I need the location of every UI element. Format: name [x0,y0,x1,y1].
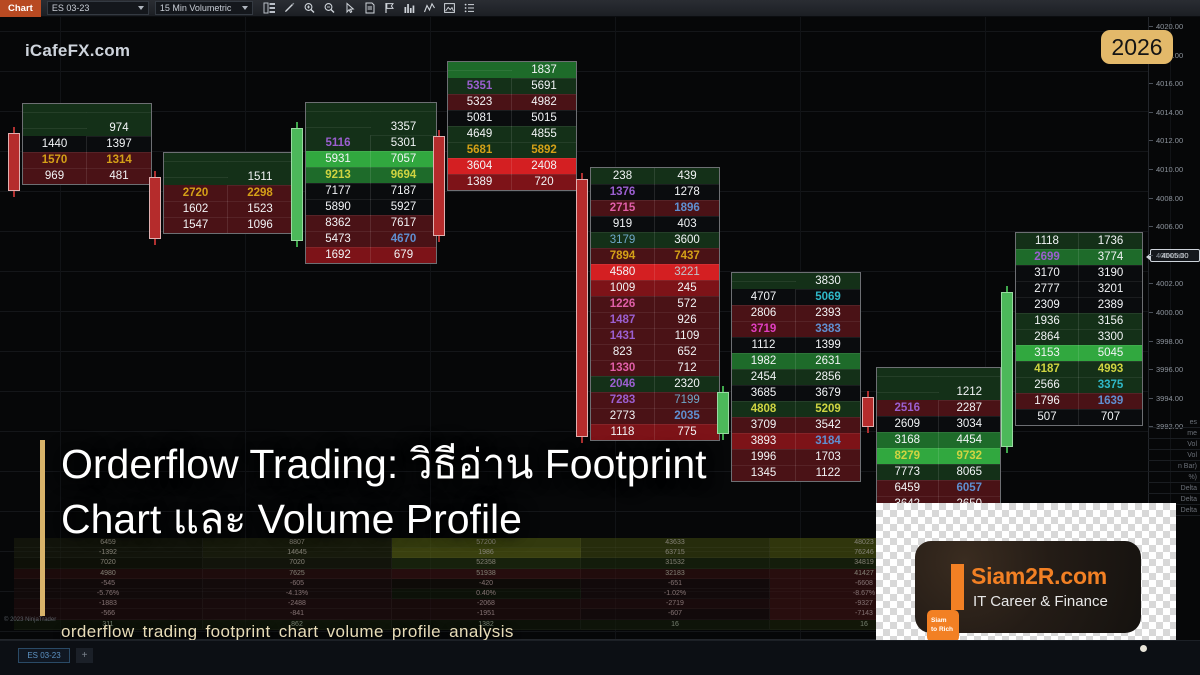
stats-cell: 16 [581,620,770,630]
bid-volume: 4187 [1016,361,1079,378]
stats-cell: 63715 [581,548,770,558]
footprint-row[interactable]: 1487926 [591,312,719,328]
ask-volume: 5301 [371,135,436,152]
bid-volume [306,127,371,128]
footprint-row[interactable]: 46494855 [448,126,576,142]
ask-volume: 1703 [796,449,860,466]
ask-volume: 572 [655,296,719,313]
ask-volume: 4982 [512,94,576,111]
brand-accent-bar [951,564,964,610]
price-candle [576,179,588,437]
ask-volume: 1278 [655,184,719,201]
price-tick-label: 4006.00 [1156,222,1183,231]
footprint-row[interactable]: 919403 [591,216,719,232]
ask-volume: 3830 [796,273,860,290]
price-candle [433,136,445,236]
ask-volume: 481 [87,168,151,184]
bid-volume: 969 [23,168,87,184]
bid-volume: 8279 [877,448,939,465]
brand-chip-line1: Siam [931,617,947,624]
bid-volume [164,177,228,178]
zoom-in-icon[interactable] [300,0,320,17]
add-tab-button[interactable]: + [76,648,93,663]
ask-volume: 1122 [796,465,860,481]
footprint-row[interactable] [164,153,292,169]
bid-volume [164,161,228,162]
bid-volume: 7283 [591,392,655,409]
bid-volume: 919 [591,216,655,233]
price-candle [717,392,729,434]
bid-volume [23,128,87,129]
footprint-row[interactable]: 19961703 [732,449,860,465]
footprint-row[interactable]: 19363156 [1016,313,1142,329]
stats-cell: -2719 [581,599,770,609]
ask-volume: 1399 [796,337,860,354]
footprint-row[interactable]: 27773201 [1016,281,1142,297]
footprint-row[interactable]: 15701314 [23,152,151,168]
stats-cell: -651 [581,579,770,589]
list-icon[interactable] [460,0,480,17]
bid-volume: 4808 [732,401,796,418]
footprint-row[interactable]: 47075069 [732,289,860,305]
bid-volume: 2777 [1016,281,1079,298]
bid-volume: 1692 [306,247,371,263]
footprint-row[interactable]: 13761278 [591,184,719,200]
ask-volume: 3184 [796,433,860,450]
stats-cell: 1986 [392,548,581,558]
price-tick: 4008.00 [1149,193,1200,204]
footprint-row[interactable]: 28643300 [1016,329,1142,345]
bid-volume: 7894 [591,248,655,265]
ask-volume: 7199 [655,392,719,409]
candle-body [291,128,303,241]
ask-volume: 2631 [796,353,860,370]
tick-dash [1149,140,1153,141]
bid-volume: 5323 [448,94,512,111]
ask-volume [371,111,436,112]
bid-volume: 1009 [591,280,655,297]
bid-volume: 5890 [306,199,371,216]
ask-volume: 2389 [1079,297,1142,314]
bid-volume: 1330 [591,360,655,377]
footprint-row[interactable]: 27151896 [591,200,719,216]
ask-volume: 3774 [1079,249,1142,266]
footprint-cells: 1118173626993774317031902777320123092389… [1015,232,1143,426]
footprint-row[interactable]: 36042408 [448,158,576,174]
price-tick-label: 4008.00 [1156,194,1183,203]
footprint-row[interactable]: 15471096 [164,217,292,233]
ask-volume: 7187 [371,183,436,200]
bid-volume: 2566 [1016,377,1079,394]
tick-dash [1149,283,1153,284]
price-tick-label: 4016.00 [1156,79,1183,88]
bid-volume: 1376 [591,184,655,201]
footprint-row[interactable]: 45803221 [591,264,719,280]
ask-volume: 7617 [371,215,436,232]
footprint-row[interactable]: 71777187 [306,183,436,199]
footprint-row[interactable]: 1009245 [591,280,719,296]
ask-volume: 5045 [1079,345,1142,362]
price-tick-label: 4010.00 [1156,165,1183,174]
footprint-row[interactable]: 72837199 [591,392,719,408]
indicator-label: n Bar) [1148,461,1200,472]
bid-volume: 1602 [164,201,228,218]
ask-volume: 245 [655,280,719,297]
price-tick-label: 3994.00 [1156,394,1183,403]
ask-volume: 4454 [939,432,1001,449]
title-overlay: Orderflow Trading: วิธีอ่าน Footprint Ch… [40,437,730,547]
price-tick: 4014.00 [1149,107,1200,118]
ask-volume: 3201 [1079,281,1142,298]
footprint-row[interactable]: 25162287 [877,400,1000,416]
bid-volume: 2715 [591,200,655,217]
ask-volume: 5209 [796,401,860,418]
ask-volume: 1511 [228,169,292,186]
footprint-row[interactable]: 92139694 [306,167,436,183]
tick-dash [1149,369,1153,370]
price-candle [291,128,303,241]
bid-volume: 1118 [1016,233,1079,250]
candle-body [576,179,588,437]
footprint-row[interactable]: 51165301 [306,135,436,151]
footprint-row[interactable]: 13451122 [732,465,860,481]
footprint-row[interactable]: 26993774 [1016,249,1142,265]
footprint-row[interactable]: 56815892 [448,142,576,158]
bid-volume: 5931 [306,151,371,168]
footprint-row[interactable]: 37093542 [732,417,860,433]
ask-volume: 3542 [796,417,860,434]
footprint-row[interactable]: 11181736 [1016,233,1142,249]
ask-volume: 2035 [655,408,719,425]
period-select[interactable]: 15 Min Volumetric [155,1,253,15]
price-tick: 4000.00 [1149,307,1200,318]
tick-dash [1149,26,1153,27]
footprint-row[interactable]: 77738065 [877,464,1000,480]
bid-volume: 2609 [877,416,939,433]
price-tick: 3994.00 [1149,393,1200,404]
bid-volume [23,112,87,113]
stats-cell: 51938 [392,569,581,579]
footprint-row[interactable]: 3830 [732,273,860,289]
tick-dash [1149,341,1153,342]
chevron-down-icon [242,6,248,10]
footprint-row[interactable]: 27732035 [591,408,719,424]
footprint-row[interactable] [23,104,151,120]
footprint-row[interactable]: 31684454 [877,432,1000,448]
tick-dash [1149,112,1153,113]
footprint-row[interactable]: 20462320 [591,376,719,392]
footprint-cells: 9741440139715701314969481 [22,103,152,185]
footprint-cells: 3830470750692806239337193383111213991982… [731,272,861,482]
stats-cell: 7625 [203,569,392,579]
footprint-row[interactable] [306,103,436,119]
price-tick-label: 4000.00 [1156,308,1183,317]
ask-volume: 1109 [655,328,719,345]
footprint-row[interactable]: 1212 [877,384,1000,400]
footprint-row[interactable]: 36853679 [732,385,860,401]
price-tick: 4002.00 [1149,278,1200,289]
footprint-cells: 1837535156915323498250815015464948555681… [447,61,577,191]
indicator-label: Vol [1148,450,1200,461]
bid-volume: 1226 [591,296,655,313]
bid-volume: 2773 [591,408,655,425]
tick-dash [1149,398,1153,399]
ninjatrader-copyright: © 2023 NinjaTrader [4,617,56,623]
footprint-row[interactable]: 64596057 [877,480,1000,496]
footprint-row[interactable]: 14401397 [23,136,151,152]
bid-volume: 1996 [732,449,796,466]
ask-volume: 7057 [371,151,436,168]
ask-volume: 1736 [1079,233,1142,250]
stats-cell: 14645 [203,548,392,558]
ask-volume: 1523 [228,201,292,218]
footprint-row[interactable]: 28062393 [732,305,860,321]
footprint-row[interactable]: 19822631 [732,353,860,369]
stats-cell: 32183 [581,569,770,579]
bars-icon[interactable] [400,0,420,17]
footprint-cells: 3357511653015931705792139694717771875890… [305,102,437,264]
footprint-row[interactable]: 50815015 [448,110,576,126]
stats-cell: 0.40% [392,589,581,599]
ask-volume: 3190 [1079,265,1142,282]
bid-volume: 4649 [448,126,512,143]
site-watermark: iCafeFX.com [25,41,130,61]
bid-volume [448,70,512,71]
ask-volume: 1837 [512,62,576,79]
year-badge: 2026 [1101,30,1173,64]
ask-volume: 4670 [371,231,436,248]
stats-cell: -2068 [392,599,581,609]
page-subtitle: orderflow trading footprint chart volume… [61,622,514,642]
footprint-row[interactable]: 1511 [164,169,292,185]
price-tick: 3996.00 [1149,364,1200,375]
line-chart-icon[interactable] [420,0,440,17]
stats-cell: 7020 [203,558,392,568]
footprint-row[interactable]: 31535045 [1016,345,1142,361]
ask-volume: 8065 [939,464,1001,481]
price-tick-label: 4002.00 [1156,279,1183,288]
ask-volume: 4855 [512,126,576,143]
ask-volume: 1314 [87,152,151,169]
bid-volume: 1982 [732,353,796,370]
bid-volume: 9213 [306,167,371,184]
footprint-row[interactable]: 37193383 [732,321,860,337]
ask-volume: 7437 [655,248,719,265]
footprint-row[interactable]: 16021523 [164,201,292,217]
stats-cell: 31532 [581,558,770,568]
data-box-icon[interactable] [260,0,280,17]
instrument-select[interactable]: ES 03-23 [47,1,149,15]
footprint-row[interactable]: 17961639 [1016,393,1142,409]
ask-volume: 5069 [796,289,860,306]
price-candle [862,397,874,427]
candle-body [862,397,874,427]
bid-volume: 3709 [732,417,796,434]
bid-volume: 507 [1016,409,1079,425]
footprint-row[interactable]: 507707 [1016,409,1142,425]
footprint-cells: 2384391376127827151896919403317936007894… [590,167,720,441]
footprint-row[interactable]: 82799732 [877,448,1000,464]
footprint-row[interactable]: 53515691 [448,78,576,94]
bid-volume: 1431 [591,328,655,345]
footprint-row[interactable]: 1692679 [306,247,436,263]
footprint-row[interactable]: 974 [23,120,151,136]
mouse-cursor [1140,645,1147,652]
bid-volume: 2864 [1016,329,1079,346]
price-candle [1001,292,1013,447]
footprint-row[interactable]: 53234982 [448,94,576,110]
footprint-row[interactable]: 31703190 [1016,265,1142,281]
chart-menu-button[interactable]: Chart [0,0,41,17]
ask-volume: 3156 [1079,313,1142,330]
bid-volume: 3893 [732,433,796,450]
price-tick-label: 3996.00 [1156,365,1183,374]
bid-volume: 2516 [877,400,939,417]
ask-volume: 5691 [512,78,576,95]
footprint-row[interactable]: 31793600 [591,232,719,248]
chevron-down-icon [138,6,144,10]
footprint-row[interactable]: 26093034 [877,416,1000,432]
ask-volume: 1096 [228,217,292,233]
footprint-row[interactable]: 58905927 [306,199,436,215]
bid-volume: 1796 [1016,393,1079,410]
bid-volume: 1547 [164,217,228,233]
bid-volume: 1389 [448,174,512,190]
bid-volume: 1440 [23,136,87,153]
bid-volume: 1570 [23,152,87,169]
ask-volume: 3034 [939,416,1001,433]
ask-volume: 4993 [1079,361,1142,378]
footprint-row[interactable]: 1389720 [448,174,576,190]
footprint-row[interactable]: 27202298 [164,185,292,201]
ask-volume: 1896 [655,200,719,217]
bid-volume: 2309 [1016,297,1079,314]
flag-icon[interactable] [380,0,400,17]
workspace-tab-es[interactable]: ES 03-23 [18,648,70,663]
stats-cell: -4.13% [203,589,392,599]
footprint-row[interactable]: 48085209 [732,401,860,417]
ask-volume: 3357 [371,119,436,136]
price-tick-label: 4012.00 [1156,136,1183,145]
bid-volume: 1936 [1016,313,1079,330]
footprint-row[interactable]: 83627617 [306,215,436,231]
footprint-row[interactable]: 823652 [591,344,719,360]
footprint-row[interactable]: 59317057 [306,151,436,167]
footprint-row[interactable]: 14311109 [591,328,719,344]
tick-dash [1149,83,1153,84]
footprint-row[interactable]: 1226572 [591,296,719,312]
brand-tagline: IT Career & Finance [973,593,1108,610]
stats-cell: -420 [392,579,581,589]
ask-volume: 1212 [939,384,1001,401]
indicator-label: Delta [1148,483,1200,494]
ask-volume: 974 [87,120,151,137]
footprint-row[interactable]: 238439 [591,168,719,184]
stats-cell: -1.02% [581,589,770,599]
footprint-cells: 1511272022981602152315471096 [163,152,293,234]
footprint-row[interactable]: 3357 [306,119,436,135]
bid-volume: 1345 [732,465,796,481]
footprint-row[interactable]: 25663375 [1016,377,1142,393]
footprint-chart-canvas[interactable]: 9741440139715701314969481151127202298160… [0,17,1200,675]
footprint-row[interactable]: 54734670 [306,231,436,247]
bid-volume: 2699 [1016,249,1079,266]
price-tick-label: 4004.00 [1156,251,1183,260]
ask-volume: 1397 [87,136,151,153]
bid-volume: 3719 [732,321,796,338]
footprint-row[interactable]: 969481 [23,168,151,184]
ask-volume: 679 [371,247,436,263]
price-tick: 4006.00 [1149,221,1200,232]
price-candle [149,177,161,239]
bid-volume: 3170 [1016,265,1079,282]
pencil-icon[interactable] [280,0,300,17]
image-icon[interactable] [440,0,460,17]
bid-volume: 5473 [306,231,371,248]
bid-volume: 2720 [164,185,228,202]
price-tick: 4010.00 [1149,164,1200,175]
bid-volume: 5116 [306,135,371,152]
footprint-row[interactable]: 1837 [448,62,576,78]
stats-cell: -607 [581,609,770,619]
ask-volume: 5892 [512,142,576,159]
indicator-label: es [1148,417,1200,428]
zoom-out-icon[interactable] [320,0,340,17]
footprint-row[interactable]: 78947437 [591,248,719,264]
footprint-row[interactable]: 11121399 [732,337,860,353]
brand-chip: Siam to Rich [927,610,959,642]
bid-volume: 1112 [732,337,796,354]
cursor-arrow-icon[interactable] [340,0,360,17]
ask-volume [939,376,1001,377]
ask-volume: 707 [1079,409,1142,425]
ask-volume: 6057 [939,480,1001,497]
footprint-row[interactable] [877,368,1000,384]
ask-volume: 3679 [796,385,860,402]
ask-volume: 5927 [371,199,436,216]
footprint-row[interactable]: 1330712 [591,360,719,376]
bid-volume: 238 [591,168,655,185]
brand-card[interactable]: Siam2R.com IT Career & Finance Siam to R… [915,541,1141,633]
period-select-value: 15 Min Volumetric [160,3,232,13]
footprint-row[interactable]: 23092389 [1016,297,1142,313]
bid-volume: 823 [591,344,655,361]
ask-volume [87,112,151,113]
chart-toolbar: Chart ES 03-23 15 Min Volumetric [0,0,1200,17]
candle-body [433,136,445,236]
tick-dash [1149,198,1153,199]
bid-volume: 6459 [877,480,939,497]
footprint-row[interactable]: 24542856 [732,369,860,385]
bid-volume: 3153 [1016,345,1079,362]
stats-cell: -841 [203,609,392,619]
footprint-row[interactable]: 41874993 [1016,361,1142,377]
note-icon[interactable] [360,0,380,17]
ask-volume: 3383 [796,321,860,338]
candle-body [8,133,20,191]
bid-volume: 4580 [591,264,655,281]
candle-body [1001,292,1013,447]
ask-volume: 2856 [796,369,860,386]
stats-cell: 52358 [392,558,581,568]
price-tick: 4012.00 [1149,135,1200,146]
footprint-row[interactable]: 38933184 [732,433,860,449]
price-candle [8,133,20,191]
ask-volume: 3375 [1079,377,1142,394]
bid-volume: 8362 [306,215,371,232]
ask-volume: 2408 [512,158,576,175]
ask-volume: 720 [512,174,576,190]
